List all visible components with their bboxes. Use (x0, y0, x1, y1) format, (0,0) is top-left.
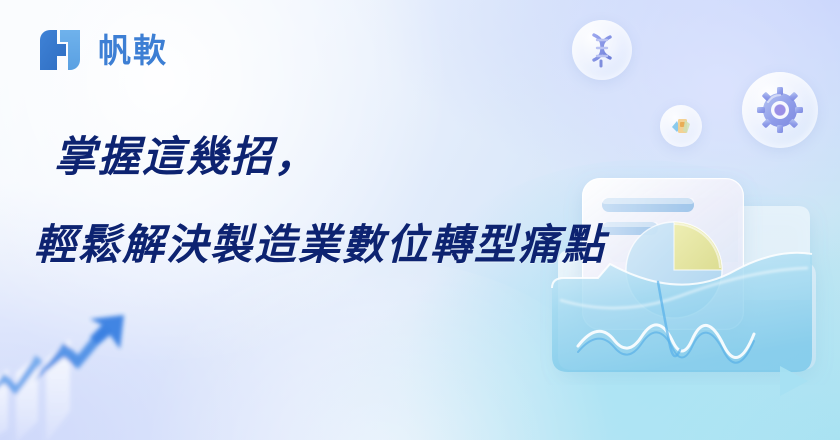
gear-bubble (742, 72, 818, 148)
play-triangle-icon[interactable] (772, 360, 814, 402)
brand-logo[interactable]: 帆軟 (36, 26, 168, 74)
gear-icon (756, 86, 804, 134)
chip-bubble (660, 105, 702, 147)
growth-arrow-icon (0, 311, 152, 440)
chip-icon (669, 114, 693, 138)
promotional-banner: 帆軟 (0, 0, 840, 440)
headline-line-2: 輕鬆解決製造業數位轉型痛點 (34, 224, 606, 266)
headline-line-1: 掌握這幾招， (54, 136, 606, 178)
headline-block: 掌握這幾招， 輕鬆解決製造業數位轉型痛點 (34, 136, 606, 266)
dna-helix-icon (585, 31, 619, 69)
fanruan-logo-mark (36, 26, 84, 74)
dna-bubble (572, 20, 632, 80)
brand-name: 帆軟 (98, 34, 168, 67)
